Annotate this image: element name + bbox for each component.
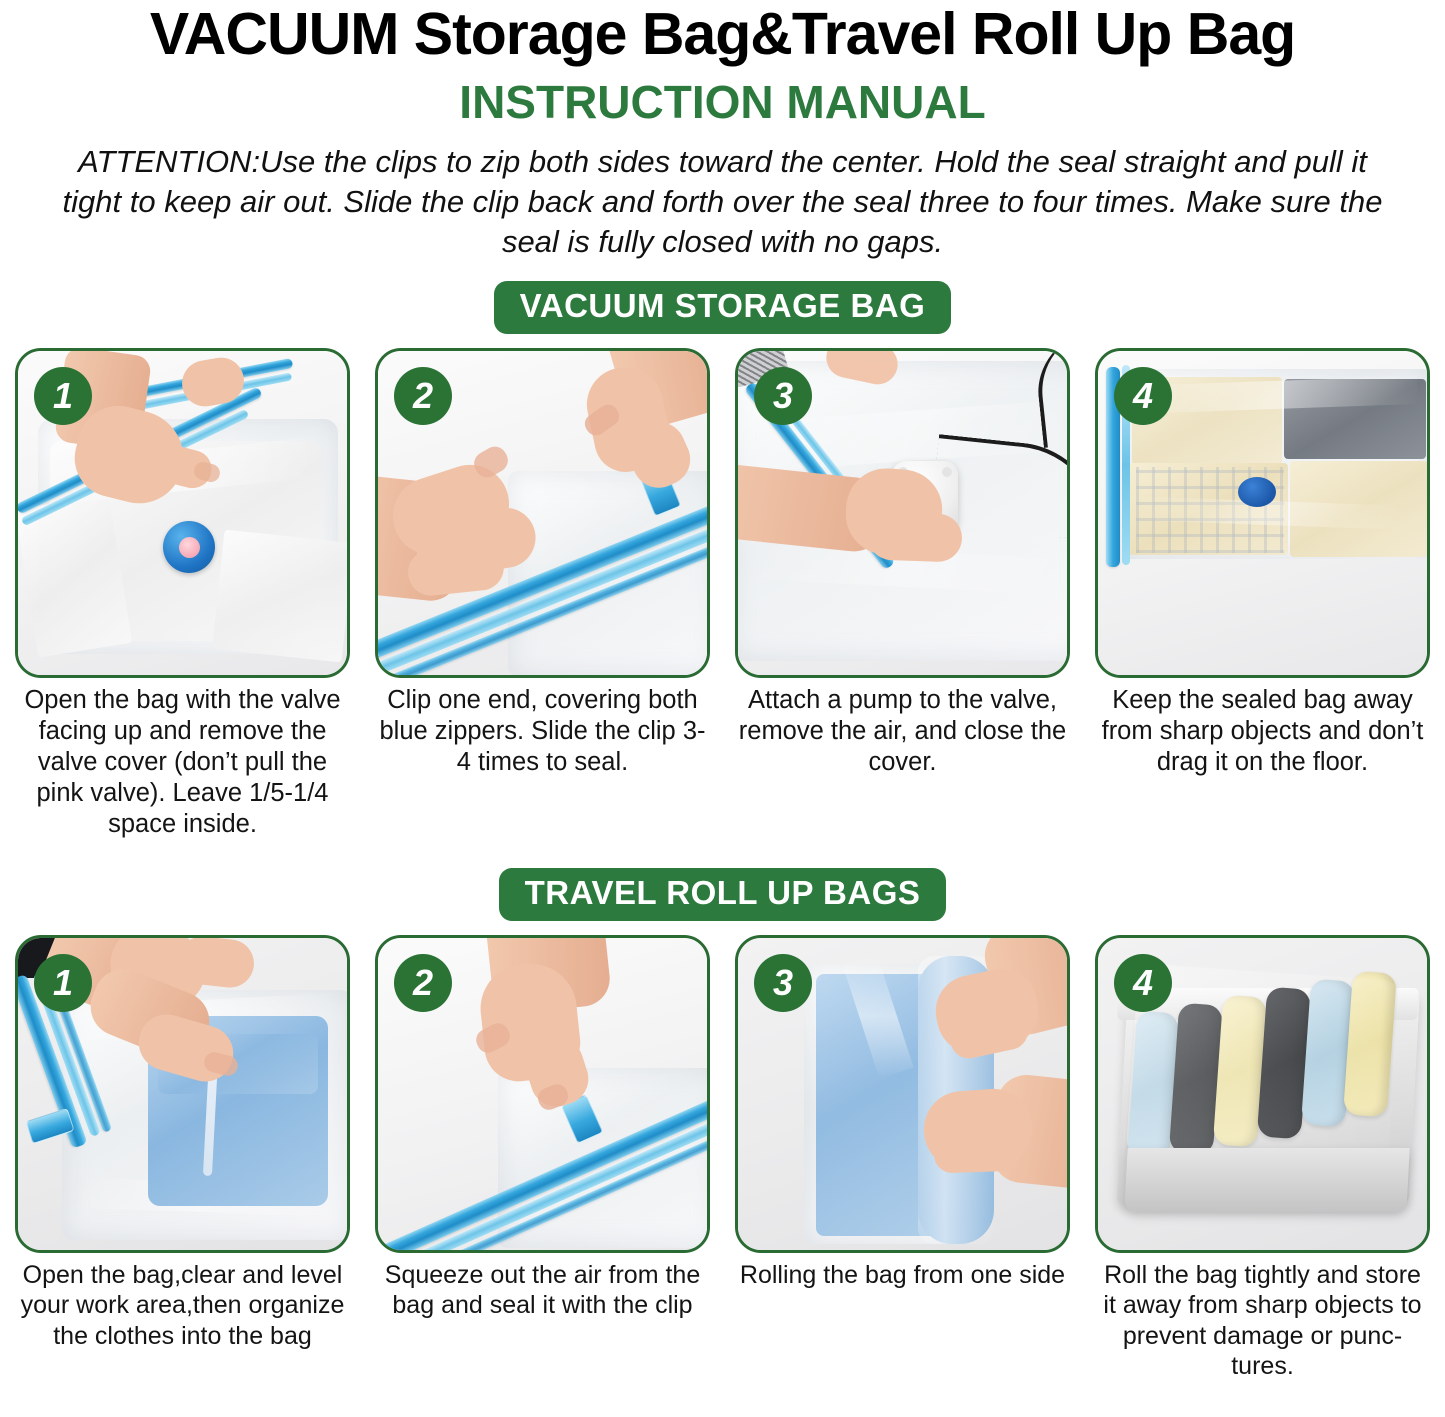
step-caption: Keep the sealed bag away from sharp obje… <box>1095 685 1430 778</box>
step-number-badge: 3 <box>754 367 812 425</box>
step-caption: Clip one end, covering both blue zippers… <box>375 685 710 778</box>
step-number-badge: 3 <box>754 954 812 1012</box>
step-photo-hands-rolling-bag: 3 <box>735 935 1070 1253</box>
step-caption: Open the bag,clear and level your work a… <box>15 1260 350 1352</box>
step-card: 1 Open the bag with the valve facing up … <box>15 348 350 841</box>
step-caption: Rolling the bag from one side <box>735 1260 1070 1291</box>
step-photo-hand-holding-pump-on-bag: 3 <box>735 348 1070 678</box>
step-photo-sealed-compressed-bag: 4 <box>1095 348 1430 678</box>
step-card: 4 Roll the bag tightly and store it away… <box>1095 935 1430 1382</box>
page-title: VACUUM Storage Bag&Travel Roll Up Bag <box>0 4 1445 64</box>
step-photo-hands-sliding-clip-on-zipper: 2 <box>375 348 710 678</box>
step-caption: Attach a pump to the valve, remove the a… <box>735 685 1070 778</box>
step-card: 4 Keep the sealed bag away from sharp ob… <box>1095 348 1430 841</box>
step-photo-rolled-bags-in-box: 4 <box>1095 935 1430 1253</box>
section-2-steps: 1 Open the bag,clear and level your work… <box>0 935 1445 1382</box>
attention-note: ATTENTION:Use the clips to zip both side… <box>62 142 1383 261</box>
step-caption: Open the bag with the valve facing up an… <box>15 685 350 841</box>
step-card: 3 Rolling the bag from one side <box>735 935 1070 1382</box>
step-card: 2 Clip one end, covering both blue zippe… <box>375 348 710 841</box>
instruction-manual-page: VACUUM Storage Bag&Travel Roll Up Bag IN… <box>0 4 1445 1417</box>
step-number-badge: 4 <box>1114 367 1172 425</box>
step-number-badge: 1 <box>34 367 92 425</box>
step-caption: Roll the bag tightly and store it away f… <box>1095 1260 1430 1382</box>
step-caption: Squeeze out the air from the bag and sea… <box>375 1260 710 1321</box>
step-number-badge: 1 <box>34 954 92 1012</box>
step-number-badge: 4 <box>1114 954 1172 1012</box>
step-photo-hands-placing-clothes-in-bag: 1 <box>15 935 350 1253</box>
section-badge-vacuum-storage-bag: VACUUM STORAGE BAG <box>494 281 952 333</box>
step-number-badge: 2 <box>394 367 452 425</box>
page-subtitle: INSTRUCTION MANUAL <box>0 78 1445 126</box>
section-1-steps: 1 Open the bag with the valve facing up … <box>0 348 1445 841</box>
step-photo-hand-sliding-clip-travel-bag: 2 <box>375 935 710 1253</box>
step-number-badge: 2 <box>394 954 452 1012</box>
step-card: 1 Open the bag,clear and level your work… <box>15 935 350 1382</box>
section-badge-travel-roll-up-bags: TRAVEL ROLL UP BAGS <box>499 868 947 920</box>
step-card: 3 Attach a pump to the valve, remove the… <box>735 348 1070 841</box>
section-1-badge-wrapper: VACUUM STORAGE BAG <box>0 281 1445 333</box>
step-photo-hand-pressing-bag-with-valve: 1 <box>15 348 350 678</box>
step-card: 2 Squeeze out the air from the bag and s… <box>375 935 710 1382</box>
section-2-badge-wrapper: TRAVEL ROLL UP BAGS <box>0 868 1445 920</box>
